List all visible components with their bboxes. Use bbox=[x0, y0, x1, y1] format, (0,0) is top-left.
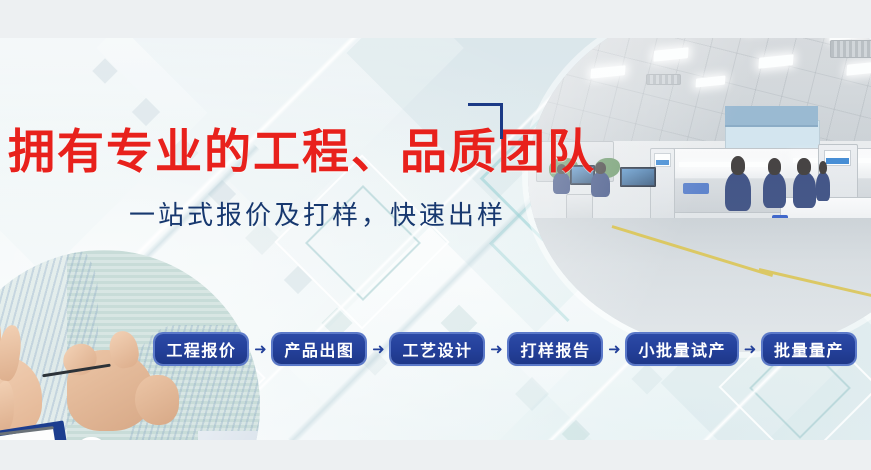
flow-step-label: 小批量试产 bbox=[638, 337, 726, 361]
page-subtitle: 一站式报价及打样，快速出样 bbox=[8, 195, 528, 232]
page-title: 拥有专业的工程、品质团队 bbox=[8, 126, 528, 179]
flow-step-label: 工艺设计 bbox=[402, 337, 472, 361]
flow-step-label: 产品出图 bbox=[284, 337, 354, 361]
flow-arrow-icon: ➜ bbox=[487, 334, 505, 364]
flow-step-label: 批量量产 bbox=[774, 337, 844, 361]
flow-step-label: 工程报价 bbox=[166, 337, 236, 361]
bottom-page-band bbox=[0, 440, 871, 470]
flow-step-6[interactable]: 批量量产 bbox=[763, 334, 855, 364]
process-flow: 工程报价 ➜ 产品出图 ➜ 工艺设计 ➜ 打样报告 ➜ 小批量试产 ➜ 批量量产 bbox=[0, 334, 871, 364]
flow-step-4[interactable]: 打样报告 bbox=[509, 334, 601, 364]
flow-arrow-icon: ➜ bbox=[605, 334, 623, 364]
flow-step-2[interactable]: 产品出图 bbox=[273, 334, 365, 364]
banner-page: 拥有专业的工程、品质团队 一站式报价及打样，快速出样 工程报价 ➜ 产品出图 ➜… bbox=[0, 0, 871, 470]
flow-arrow-icon: ➜ bbox=[369, 334, 387, 364]
flow-arrow-icon: ➜ bbox=[251, 334, 269, 364]
flow-step-1[interactable]: 工程报价 bbox=[155, 334, 247, 364]
top-page-band bbox=[0, 0, 871, 38]
title-block: 拥有专业的工程、品质团队 一站式报价及打样，快速出样 bbox=[8, 126, 528, 232]
office-photo bbox=[528, 38, 871, 352]
flow-step-5[interactable]: 小批量试产 bbox=[627, 334, 737, 364]
promo-banner: 拥有专业的工程、品质团队 一站式报价及打样，快速出样 工程报价 ➜ 产品出图 ➜… bbox=[0, 38, 871, 440]
flow-step-3[interactable]: 工艺设计 bbox=[391, 334, 483, 364]
corner-bracket-icon bbox=[468, 103, 503, 139]
flow-step-label: 打样报告 bbox=[520, 337, 590, 361]
flow-arrow-icon: ➜ bbox=[741, 334, 759, 364]
